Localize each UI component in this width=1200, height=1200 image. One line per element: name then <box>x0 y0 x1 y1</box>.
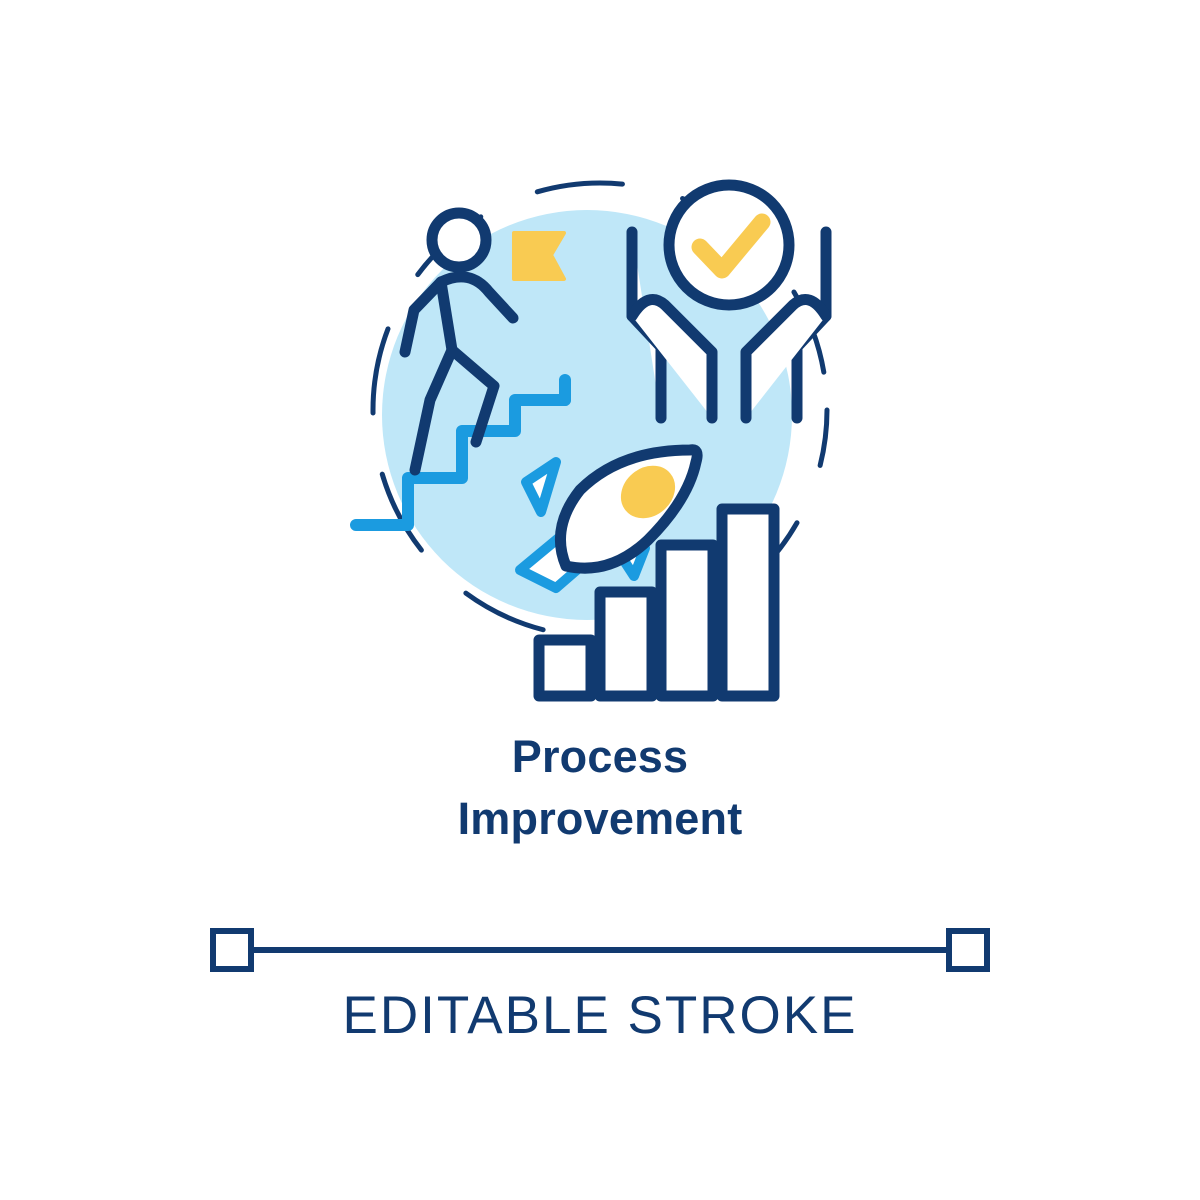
editable-stroke-label: EDITABLE STROKE <box>343 986 858 1045</box>
title-line-2: Improvement <box>0 788 1200 850</box>
title-line-1: Process <box>0 726 1200 788</box>
footer-label-block: EDITABLE STROKE <box>0 985 1200 1046</box>
rule-handle-right <box>949 931 987 969</box>
process-improvement-illustration <box>0 0 1200 760</box>
rule-handle-left <box>213 931 251 969</box>
editable-stroke-rule <box>0 925 1200 975</box>
concept-title: Process Improvement <box>0 726 1200 850</box>
concept-icon-page: Process Improvement EDITABLE STROKE <box>0 0 1200 1200</box>
checkmark-circle-icon <box>669 185 789 305</box>
